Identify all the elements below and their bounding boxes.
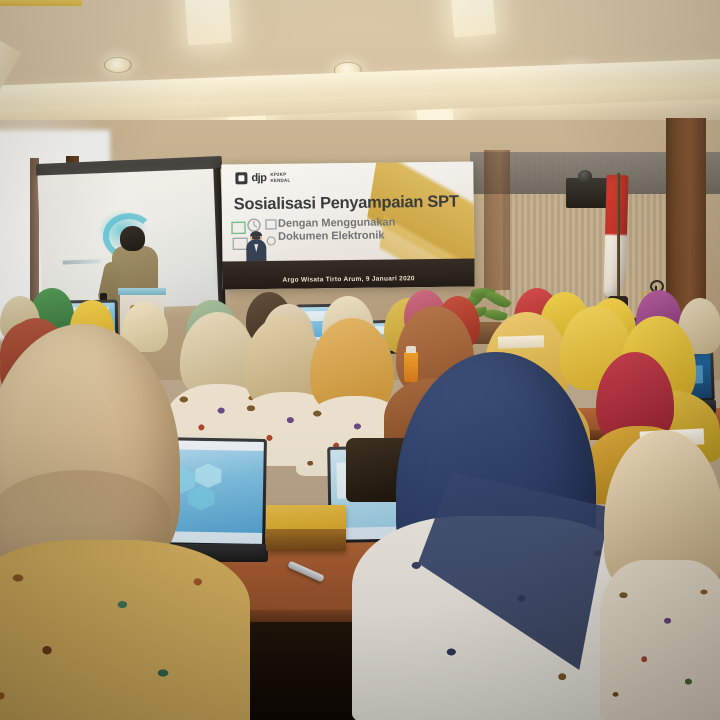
garment-batik bbox=[600, 560, 720, 720]
snack-box-artwork bbox=[266, 529, 346, 551]
banner-subtitle: Dengan Menggunakan Dokumen Elektronik bbox=[278, 216, 458, 244]
ceiling-downlight-1 bbox=[104, 57, 132, 73]
paper-sheet bbox=[498, 335, 544, 349]
drink-bottle-cap bbox=[406, 346, 416, 353]
wood-column-mid bbox=[484, 150, 510, 290]
ceiling-panel-light-1 bbox=[184, 0, 232, 45]
snack-box bbox=[266, 505, 346, 551]
flag-pole bbox=[617, 173, 620, 303]
presenter-head bbox=[120, 226, 145, 251]
djp-logo: djp KP2KP KENDAL bbox=[235, 172, 290, 185]
banner-illustration-icon bbox=[230, 216, 283, 263]
photo-scene: djp KP2KP KENDAL Sosialisasi Penyampaian… bbox=[0, 0, 720, 720]
djp-unit-label: KP2KP KENDAL bbox=[270, 172, 290, 183]
banner-subtitle-line-2: Dokumen Elektronik bbox=[278, 229, 458, 244]
screen-hexagon-icon bbox=[188, 486, 215, 511]
ceiling-panel-light-2 bbox=[450, 0, 496, 38]
snack-box-lid bbox=[0, 0, 82, 6]
plant-leaf bbox=[484, 288, 512, 312]
wall-speaker bbox=[566, 178, 608, 208]
projected-text-line bbox=[63, 259, 101, 264]
screen-hexagon-icon bbox=[195, 463, 222, 488]
event-banner: djp KP2KP KENDAL Sosialisasi Penyampaian… bbox=[221, 161, 475, 289]
djp-unit-line-2: KENDAL bbox=[270, 178, 290, 184]
podium-top-banner bbox=[118, 288, 166, 295]
banner-title: Sosialisasi Penyampaian SPT bbox=[234, 194, 464, 213]
drink-bottle bbox=[404, 352, 418, 382]
speaker-mount-icon bbox=[578, 170, 592, 182]
djp-wordmark: djp bbox=[251, 172, 266, 183]
djp-mark-icon bbox=[235, 172, 247, 184]
hijab-fold-shadow bbox=[0, 470, 170, 560]
garment-batik-gold bbox=[0, 540, 250, 720]
